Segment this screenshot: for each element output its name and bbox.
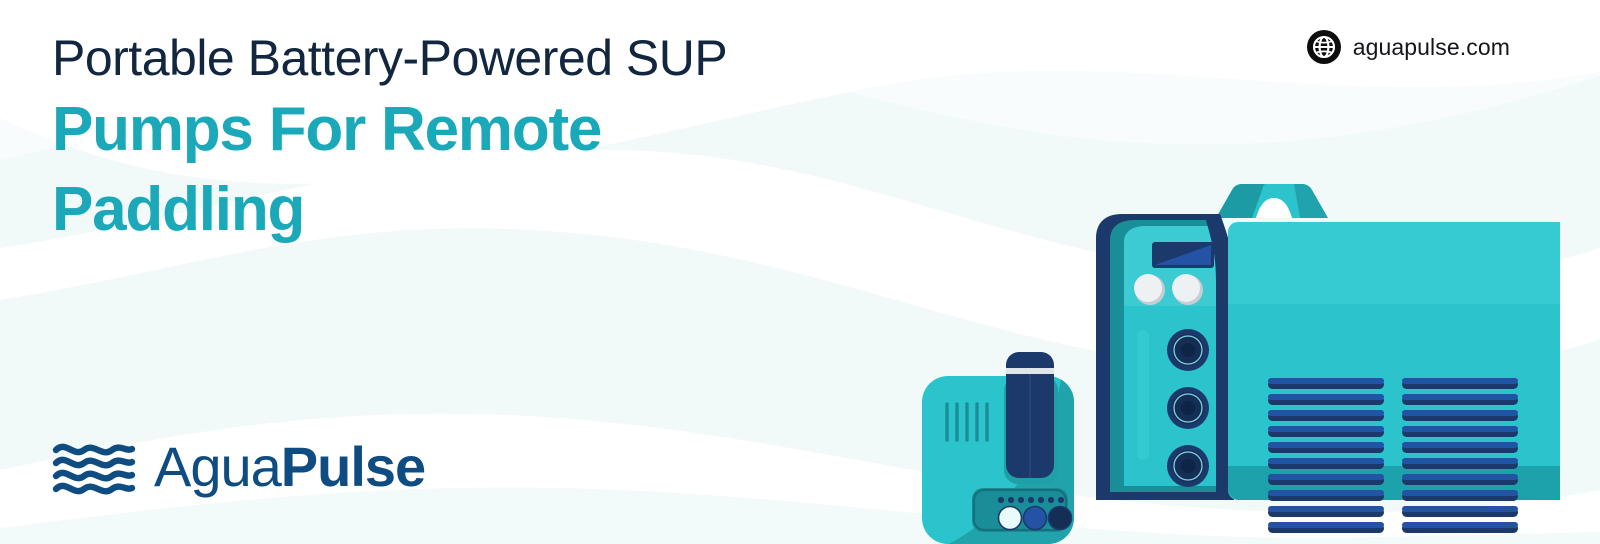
headline-line-3: Paddling [52,170,972,250]
wave-lines-icon [52,436,136,498]
brand-name-bold: Pulse [281,435,425,498]
sup-pump-product-illustration [900,144,1560,544]
hose-ports [1167,329,1209,487]
carry-handle [1216,184,1328,218]
lcd-display [1152,242,1214,268]
brand-logo-text: AguaPulse [154,439,425,495]
panel-button-2 [1024,507,1047,530]
page-title: Portable Battery-Powered SUP Pumps For R… [52,26,972,250]
headline-line-2: Pumps For Remote [52,90,972,170]
panel-button-3 [1049,507,1072,530]
website-url-badge[interactable]: aguapulse.com [1307,30,1510,64]
portable-pump-station [1096,184,1560,533]
left-side-panel [1096,214,1230,500]
headline-line-1: Portable Battery-Powered SUP [52,26,972,90]
body-top-highlight [1228,222,1560,304]
website-url-text: aguapulse.com [1353,34,1510,61]
small-pump-control-panel [972,488,1072,532]
compact-battery-pump [922,352,1076,544]
battery-band [1006,368,1054,374]
main-body [1228,222,1560,533]
promo-banner: Portable Battery-Powered SUP Pumps For R… [0,0,1600,544]
globe-icon [1307,30,1341,64]
brand-name-light: Agua [154,435,281,498]
side-recess-strip [1137,330,1149,460]
brand-logo[interactable]: AguaPulse [52,436,425,498]
panel-button-1 [999,507,1022,530]
